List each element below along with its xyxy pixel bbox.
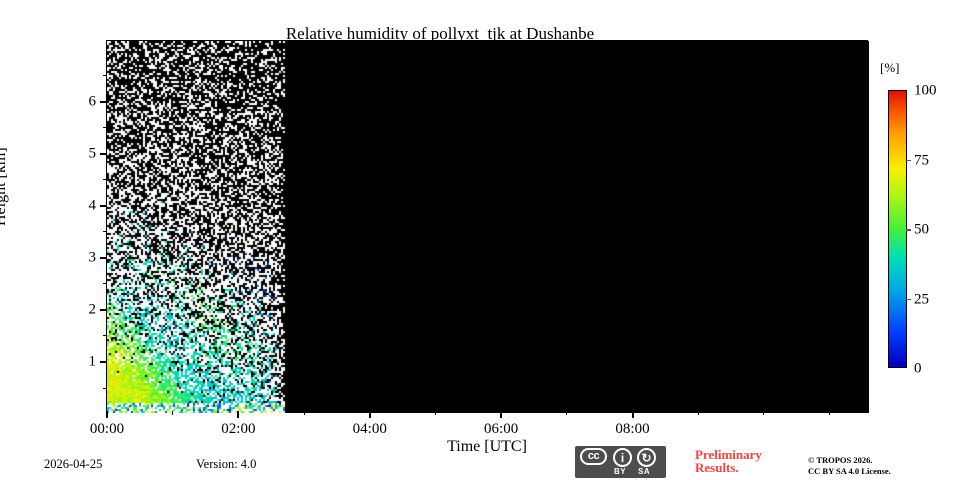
colorbar-tick-50 (906, 229, 911, 231)
colorbar-gradient (889, 91, 906, 367)
colorbar-label-100: 100 (914, 83, 937, 100)
colorbar-label-50: 50 (914, 222, 929, 239)
x-tick-minor (566, 411, 567, 415)
cc-by-label: BY (614, 467, 626, 476)
y-tick-minor (103, 179, 107, 180)
preliminary-results-notice: Preliminary Results. (695, 448, 762, 474)
x-tick-label-04:00: 04:00 (353, 421, 387, 438)
x-tick-00:00 (106, 411, 108, 418)
y-tick-1 (100, 361, 107, 363)
cc-logo-icon: cc (580, 448, 607, 465)
y-tick-label-2: 2 (89, 301, 97, 318)
y-tick-label-5: 5 (89, 145, 97, 162)
colorbar-label-75: 75 (914, 152, 929, 169)
y-tick-minor (103, 75, 107, 76)
x-tick-minor (698, 411, 699, 415)
x-tick-label-06:00: 06:00 (484, 421, 518, 438)
copyright-line-1: © TROPOS 2026. (808, 455, 891, 466)
cc-by-person-icon: i (613, 448, 632, 467)
copyright-notice: © TROPOS 2026. CC BY SA 4.0 License. (808, 455, 891, 477)
y-tick-minor (103, 127, 107, 128)
x-tick-label-00:00: 00:00 (90, 421, 124, 438)
x-tick-label-02:00: 02:00 (221, 421, 255, 438)
y-tick-minor (103, 388, 107, 389)
y-tick-2 (100, 309, 107, 311)
x-tick-minor (829, 411, 830, 415)
y-tick-label-6: 6 (89, 93, 97, 110)
y-axis-label: Height [km] (0, 147, 10, 226)
chart-page: Relative humidity of pollyxt_tjk at Dush… (0, 0, 960, 480)
x-tick-label-08:00: 08:00 (615, 421, 649, 438)
cc-icon-row: cc i ↻ (575, 446, 666, 468)
y-tick-4 (100, 205, 107, 207)
heatmap-plot-area: 123456 00:0002:0004:0006:0008:00 (106, 40, 868, 412)
y-tick-label-3: 3 (89, 249, 97, 266)
y-tick-minor (103, 231, 107, 232)
colorbar-tick-25 (906, 299, 911, 301)
heatmap-canvas (107, 41, 869, 413)
x-tick-minor (763, 411, 764, 415)
colorbar-tick-75 (906, 160, 911, 162)
colorbar-label-25: 25 (914, 291, 929, 308)
footer-date: 2026-04-25 (44, 457, 102, 472)
y-tick-5 (100, 153, 107, 155)
y-tick-label-1: 1 (89, 354, 97, 371)
copyright-line-2: CC BY SA 4.0 License. (808, 466, 891, 477)
y-tick-3 (100, 257, 107, 259)
x-tick-06:00 (500, 411, 502, 418)
creative-commons-badge[interactable]: cc i ↻ BY SA (575, 446, 666, 478)
x-tick-minor (304, 411, 305, 415)
y-tick-minor (103, 283, 107, 284)
cc-sa-label: SA (638, 467, 650, 476)
y-tick-6 (100, 101, 107, 103)
preliminary-line-2: Results. (695, 461, 762, 474)
x-tick-minor (172, 411, 173, 415)
x-tick-04:00 (369, 411, 371, 418)
x-tick-02:00 (237, 411, 239, 418)
y-tick-minor (103, 335, 107, 336)
y-tick-label-4: 4 (89, 197, 97, 214)
colorbar-unit-label: [%] (880, 60, 900, 76)
cc-sa-sharealike-icon: ↻ (637, 448, 656, 467)
colorbar: 0255075100 (888, 90, 907, 368)
x-tick-minor (435, 411, 436, 415)
footer-version: Version: 4.0 (196, 457, 256, 472)
x-tick-08:00 (632, 411, 634, 418)
colorbar-label-0: 0 (914, 361, 922, 378)
